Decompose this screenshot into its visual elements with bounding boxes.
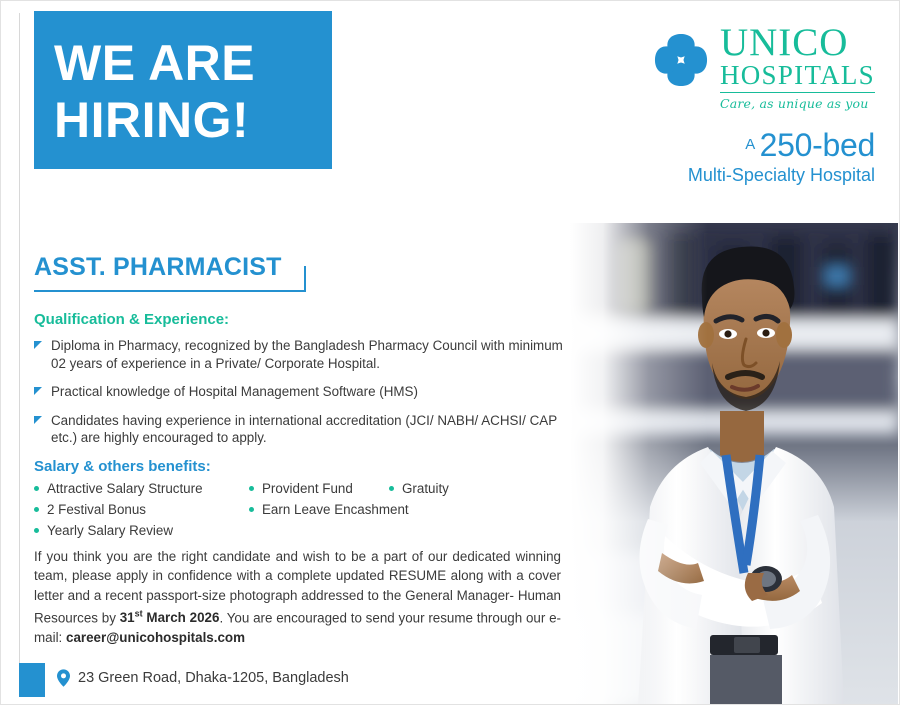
qualification-item-text: Practical knowledge of Hospital Manageme… bbox=[51, 384, 418, 399]
deadline-ordinal: st bbox=[135, 609, 143, 619]
advertisement-body: Qualification & Experience: Diploma in P… bbox=[34, 311, 564, 647]
we-are-hiring-banner: WE ARE HIRING! bbox=[34, 11, 332, 169]
benefits-list: Attractive Salary Structure Provident Fu… bbox=[34, 479, 564, 541]
bed-count: 250-bed bbox=[760, 127, 875, 163]
unico-flower-logo-icon bbox=[650, 29, 712, 91]
list-item: Yearly Salary Review bbox=[34, 521, 173, 541]
list-item: Candidates having experience in internat… bbox=[34, 412, 564, 447]
job-title-block: ASST. PHARMACIST bbox=[34, 253, 314, 292]
triangle-bullet-icon bbox=[34, 416, 42, 424]
pharmacist-portrait-photo bbox=[570, 223, 898, 705]
deadline-day: 31 bbox=[120, 610, 135, 625]
qualification-list: Diploma in Pharmacy, recognized by the B… bbox=[34, 337, 564, 447]
benefits-heading: Salary & others benefits: bbox=[34, 458, 564, 475]
list-item: Practical knowledge of Hospital Manageme… bbox=[34, 383, 564, 401]
address-text: 23 Green Road, Dhaka-1205, Bangladesh bbox=[78, 670, 349, 686]
logo-name-unico: UNICO bbox=[720, 25, 875, 61]
brand-logo-block: UNICO HOSPITALS Care, as unique as you A… bbox=[615, 25, 875, 186]
hiring-line-1: WE ARE bbox=[54, 35, 332, 92]
triangle-bullet-icon bbox=[34, 341, 42, 349]
address-accent-block bbox=[19, 663, 45, 697]
hospital-subtitle: Multi-Specialty Hospital bbox=[615, 165, 875, 186]
qualification-heading: Qualification & Experience: bbox=[34, 311, 564, 328]
hiring-line-2: HIRING! bbox=[54, 92, 332, 149]
left-edge-rule bbox=[19, 13, 20, 694]
page-title: ASST. PHARMACIST bbox=[34, 253, 314, 290]
logo-name-hospitals: HOSPITALS bbox=[720, 61, 875, 93]
contact-email[interactable]: career@unicohospitals.com bbox=[66, 630, 245, 645]
bed-count-line: A 250-bed bbox=[615, 129, 875, 161]
deadline-date: 31st March 2026 bbox=[120, 610, 220, 625]
footer-address-row: 23 Green Road, Dhaka-1205, Bangladesh bbox=[57, 669, 349, 687]
deadline-month-year: March 2026 bbox=[143, 610, 220, 625]
list-item: Gratuity bbox=[389, 479, 449, 499]
qualification-item-text: Candidates having experience in internat… bbox=[51, 413, 557, 446]
logo-tagline: Care, as unique as you bbox=[720, 96, 875, 111]
job-title-underline bbox=[34, 290, 306, 292]
qualification-item-text: Diploma in Pharmacy, recognized by the B… bbox=[51, 338, 563, 371]
list-item: Earn Leave Encashment bbox=[249, 500, 409, 520]
list-item: Diploma in Pharmacy, recognized by the B… bbox=[34, 337, 564, 372]
list-item: 2 Festival Bonus bbox=[34, 500, 146, 520]
pharmacist-photo-illustration bbox=[570, 223, 898, 705]
job-advertisement-poster: WE ARE HIRING! UNICO HOSPITALS Care, as … bbox=[0, 0, 900, 705]
list-item: Attractive Salary Structure bbox=[34, 479, 203, 499]
application-instructions: If you think you are the right candidate… bbox=[34, 547, 561, 648]
job-title-underline-tick bbox=[304, 266, 306, 292]
bed-prefix: A bbox=[745, 136, 755, 153]
list-item: Provident Fund bbox=[249, 479, 353, 499]
triangle-bullet-icon bbox=[34, 387, 42, 395]
location-pin-icon bbox=[57, 669, 70, 687]
